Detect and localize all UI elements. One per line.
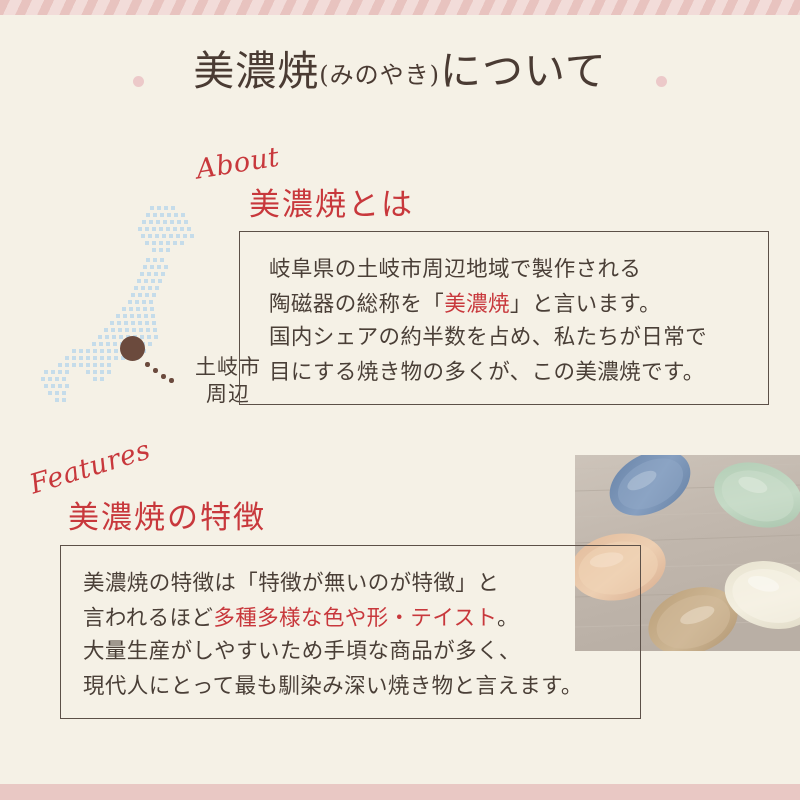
title-suffix-text: について [440,47,607,95]
text-line: 陶磁器の総称を「美濃焼」と言います。 [269,288,661,323]
features-section-heading: 美濃焼の特徴 [68,492,266,537]
title-main-text: 美濃焼 [193,47,319,95]
text-line: 美濃焼の特徴は「特徴が無いのが特徴」と [83,567,519,602]
title-decor-dot-right [656,76,667,87]
about-section-heading: 美濃焼とは [249,179,414,224]
map-leader-dot [161,374,166,379]
text-line: 言われるほど多種多様な色や形・テイスト。 [83,602,519,637]
bottom-border-band [0,784,800,800]
text-line: 岐阜県の土岐市周辺地域で製作される [269,253,661,288]
features-script-label: Features [26,435,154,501]
page-title: 美濃焼(みのやき)について [0,48,800,95]
features-paragraph-1: 美濃焼の特徴は「特徴が無いのが特徴」と 言われるほど多種多様な色や形・テイスト。 [83,567,519,637]
about-paragraph-2: 国内シェアの約半数を占め、私たちが日常で 目にする焼き物の多くが、この美濃焼です… [269,321,707,391]
text-line: 大量生産がしやすいため手頃な商品が多く、 [83,635,583,670]
top-stripe-border [0,0,800,15]
map-leader-dot [145,362,150,367]
text-line: 現代人にとって最も馴染み深い焼き物と言えます。 [83,670,583,705]
text-line: 目にする焼き物の多くが、この美濃焼です。 [269,356,707,391]
title-decor-dot-left [133,76,144,87]
japan-map-illustration: 土岐市 周辺 [34,188,244,403]
features-text-box: 美濃焼の特徴は「特徴が無いのが特徴」と 言われるほど多種多様な色や形・テイスト。… [60,545,641,719]
about-paragraph-1: 岐阜県の土岐市周辺地域で製作される 陶磁器の総称を「美濃焼」と言います。 [269,253,661,323]
title-kana-text: (みのやき) [319,61,440,89]
page-root: 美濃焼(みのやき)について About 美濃焼とは [0,0,800,800]
map-leader-dot [169,378,174,383]
text-line: 国内シェアの約半数を占め、私たちが日常で [269,321,707,356]
map-leader-dot [153,368,158,373]
features-paragraph-2: 大量生産がしやすいため手頃な商品が多く、 現代人にとって最も馴染み深い焼き物と言… [83,635,583,705]
about-text-box: 岐阜県の土岐市周辺地域で製作される 陶磁器の総称を「美濃焼」と言います。 国内シ… [239,231,769,405]
map-location-marker [120,336,145,361]
